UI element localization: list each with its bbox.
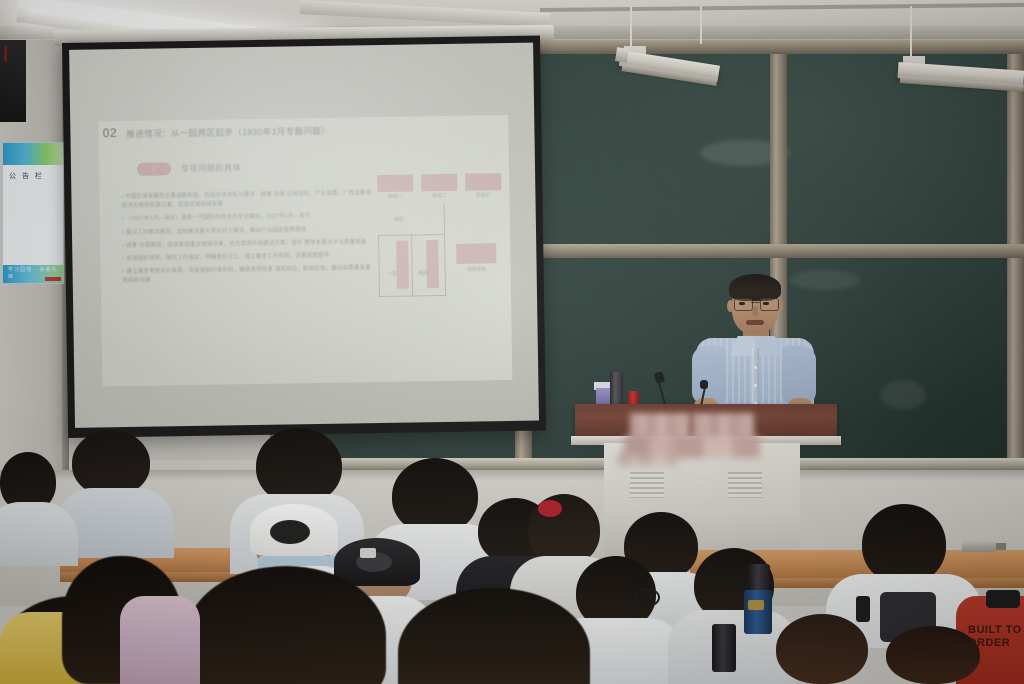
podium-vent-right (728, 472, 762, 498)
bulletin-board-tag (45, 277, 61, 281)
lecturer-sleeve-right (782, 346, 816, 404)
lecturer-eye-left (739, 302, 745, 305)
slide-title: 推进情况：从一园两区起步（1830年3月专题问题） (126, 125, 330, 140)
lecturer-brow-left (736, 293, 751, 295)
bulletin-board: 公 告 栏 学习园地 · 争做先锋 (2, 142, 64, 284)
backpack-strap (856, 596, 870, 622)
diagram-bar-label-2: 两园 (417, 270, 429, 276)
lecturer-eye-right (763, 302, 769, 305)
lamp-cord (910, 6, 912, 58)
wall-fixture-bracket (996, 543, 1006, 550)
diagram-box-top-3 (465, 173, 501, 191)
diagram-box-side (456, 243, 496, 264)
slide-bullet-list: ​中国区域发展的主要战略布局，包括总体目标与要求，统筹 布局 区域协同，产业发展… (121, 189, 373, 291)
lecturer-hair (729, 274, 781, 301)
wall-fixture (962, 540, 996, 552)
lamp-cord (700, 6, 702, 44)
slide-badge-number: 2 (137, 162, 171, 176)
hair-scrunchie-icon (538, 500, 562, 517)
glasses-icon (634, 588, 660, 607)
slide-subheading: 专项问题的具体 (181, 162, 241, 174)
diagram-label-side: 成效评估 (457, 266, 497, 273)
diagram-label-left: 目标 (386, 217, 412, 223)
chalkboard-frame-right (1007, 40, 1024, 490)
lamp-cord (630, 6, 632, 50)
slide-diagram: 阶段一 阶段二 阶段三 目标 一区 两园 (377, 173, 508, 355)
desk-bottle-dark (986, 590, 1020, 608)
diagram-label-top-1: 阶段一 (377, 193, 413, 200)
diagram-label-top-2: 阶段二 (421, 193, 457, 200)
podium-item-thermos (610, 372, 623, 405)
diagram-gridline (378, 235, 380, 297)
slide-bullet: （1827年1月—现在）最新一代国际科技合作平台建设，2027年1月—至今 (122, 212, 372, 225)
lecturer-sleeve-left (692, 346, 726, 404)
chalk-smudge (880, 380, 926, 410)
diagram-bar-label-1: 一区 (387, 271, 399, 277)
slide-bullet: 重点工作推进情况，加快推进重大项目开工建设，推动产业园区提质增效 (122, 225, 372, 238)
projector-screen-surface: 02 推进情况：从一园两区起步（1830年3月专题问题） 2 专项问题的具体 ​… (69, 43, 539, 428)
lamp-end-cap (615, 47, 629, 63)
diagram-gridline (444, 204, 446, 296)
microphone-icon-secondary (700, 380, 708, 389)
projected-slide: 02 推进情况：从一园两区起步（1830年3月专题问题） 2 专项问题的具体 ​… (98, 115, 512, 386)
diagram-gridline (411, 235, 413, 297)
lecturer (690, 278, 820, 424)
projector-screen-frame: 02 推进情况：从一园两区起步（1830年3月专题问题） 2 专项问题的具体 ​… (62, 35, 546, 437)
diagram-bar-2 (426, 240, 439, 288)
slide-bullet: 统筹 协调推进，加快推进重点领域改革，优化营商环境建设方案，提升 整体发展水平与… (122, 238, 372, 251)
shirt-button (754, 366, 757, 369)
diagram-label-top-3: 阶段三 (465, 192, 501, 199)
cap-back-opening (270, 520, 310, 544)
diagram-box-top-1 (377, 175, 413, 193)
bulletin-board-header (3, 143, 63, 165)
diagram-bar-1 (396, 241, 409, 289)
lecturer-brow-right (760, 293, 775, 295)
glasses-bridge (751, 302, 760, 303)
shirt-button (754, 384, 757, 387)
desk-bottle-black-2 (712, 624, 736, 672)
lecturer-mouth (746, 320, 764, 325)
slide-bullet: 建立健全考核评价体系，完善激励约束机制，确保各项任务 落实到位，取得实效，推动高… (123, 264, 373, 286)
platform-edge (0, 470, 1024, 480)
lecturer-nose (752, 306, 758, 316)
bulletin-board-title: 公 告 栏 (9, 171, 44, 181)
slide-bullet: ​中国区域发展的主要战略布局，包括总体目标与要求，统筹 布局 区域协同，产业发展… (121, 189, 371, 211)
diagram-gridline (379, 295, 445, 297)
desk-bottle-black (748, 564, 770, 590)
lecture-hall-photo: 公 告 栏 学习园地 · 争做先锋 02 推进情况：从一园两区起步（1830年3… (0, 0, 1024, 684)
slide-bullet: 加强组织领导，强化工作落实，明确责任分工，建立健全工作机制，定期调度督导 (122, 251, 372, 264)
podium-vent-left (630, 472, 664, 498)
cap-label (360, 548, 376, 558)
slide-section-number: 02 (102, 125, 117, 140)
student-pink-shirt (120, 596, 200, 684)
bottle-label (748, 600, 764, 610)
podium-banner-redacted (618, 452, 678, 466)
diagram-box-top-2 (421, 174, 457, 192)
slide-badge: 2 (137, 162, 171, 176)
lecturer-ear-left (727, 300, 734, 312)
wall-hook (4, 46, 7, 62)
desk-bottle-blue (744, 590, 772, 634)
